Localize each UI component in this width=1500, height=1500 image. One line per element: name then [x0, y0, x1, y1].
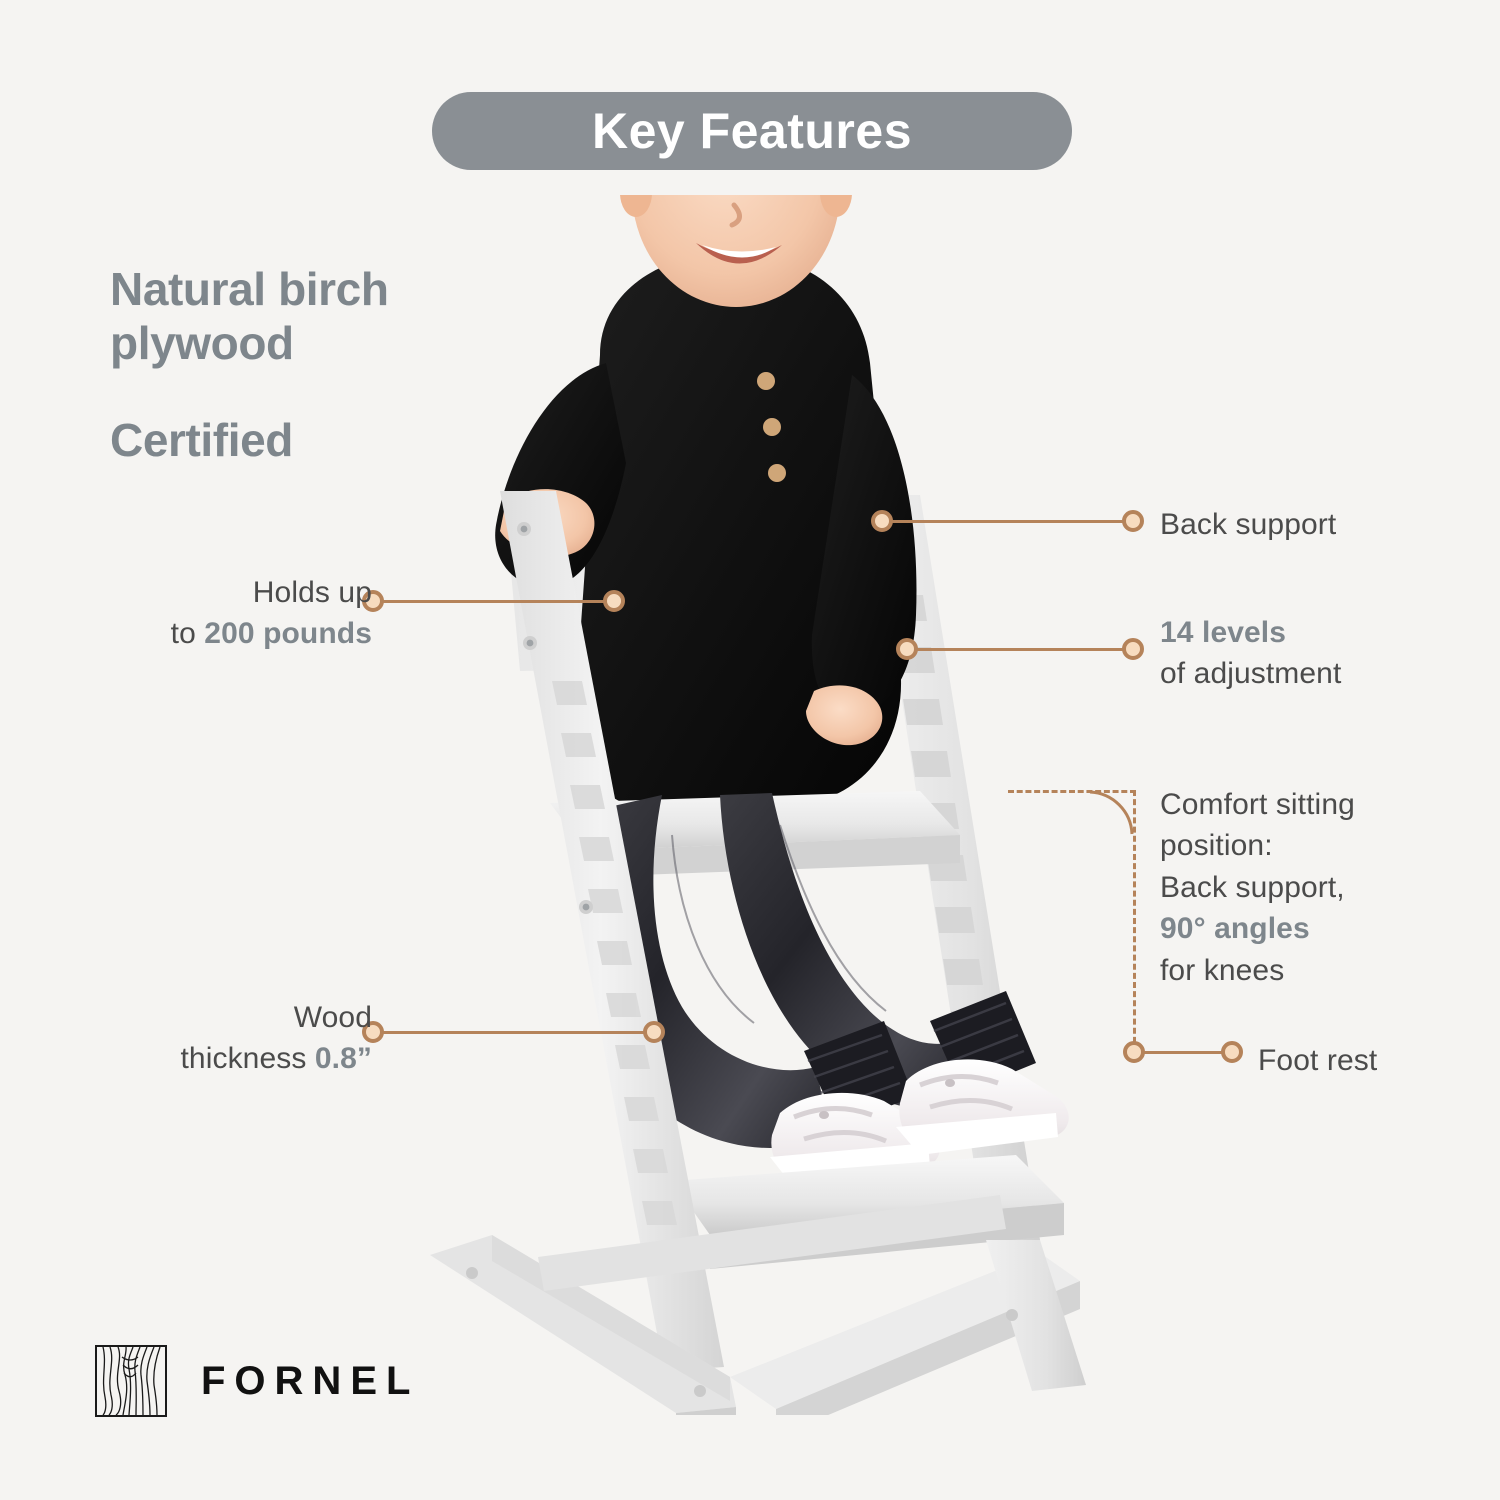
callout-foot-rest-label: Foot rest — [1258, 1044, 1377, 1077]
callout-wood-line1: Wood — [294, 1001, 372, 1034]
callout-comfort-line5: for knees — [1160, 954, 1284, 987]
callout-comfort-line3: Back support, — [1160, 871, 1345, 904]
callout-levels-rest: of adjustment — [1160, 657, 1341, 690]
callout-holds-prefix: to — [171, 617, 205, 650]
connector-line-back-support — [892, 520, 1134, 523]
callout-foot-rest: Foot rest — [1258, 1040, 1498, 1081]
brand-name: FORNEL — [201, 1359, 419, 1404]
right-angle-arc-icon — [1088, 790, 1134, 836]
connector-dot-back-support-label — [1122, 510, 1144, 532]
callout-comfort-angle: 90° angles — [1160, 912, 1310, 945]
page-title: Key Features — [592, 106, 912, 156]
connector-line-levels — [917, 648, 1134, 651]
callout-comfort-line1: Comfort sitting — [1160, 788, 1355, 821]
callout-back-support-label: Back support — [1160, 508, 1336, 541]
connector-dot-foot-rest-label — [1221, 1041, 1243, 1063]
connector-dot-levels-label — [1122, 638, 1144, 660]
callout-wood-value: 0.8” — [315, 1042, 372, 1075]
infographic-canvas: Key Features Natural birch plywood Certi… — [0, 0, 1500, 1500]
brand-logo: FORNEL — [95, 1345, 419, 1417]
product-photo — [400, 195, 1100, 1415]
callout-wood-prefix: thickness — [181, 1042, 315, 1075]
callout-comfort-line2: position: — [1160, 829, 1273, 862]
callout-comfort-position: Comfort sitting position: Back support, … — [1160, 784, 1490, 991]
callout-adjustment-levels: 14 levels of adjustment — [1160, 612, 1490, 695]
callout-holds-line1: Holds up — [253, 576, 372, 609]
connector-line-wood — [383, 1031, 655, 1034]
callout-holds-value: 200 pounds — [204, 617, 372, 650]
connector-dot-wood-anchor — [643, 1021, 665, 1043]
page-title-pill: Key Features — [432, 92, 1072, 170]
callout-back-support: Back support — [1160, 504, 1490, 545]
wood-grain-square-icon — [95, 1345, 167, 1417]
connector-dot-foot-rest-anchor — [1123, 1041, 1145, 1063]
connector-dot-back-support-anchor — [871, 510, 893, 532]
connector-line-holds — [383, 600, 615, 603]
callout-levels-value: 14 levels — [1160, 616, 1286, 649]
connector-line-foot-rest — [1144, 1051, 1232, 1054]
connector-dot-levels-anchor — [896, 638, 918, 660]
callout-wood-thickness: Wood thickness 0.8” — [112, 997, 372, 1080]
connector-dot-holds-anchor — [603, 590, 625, 612]
callout-holds-capacity: Holds up to 200 pounds — [112, 572, 372, 655]
